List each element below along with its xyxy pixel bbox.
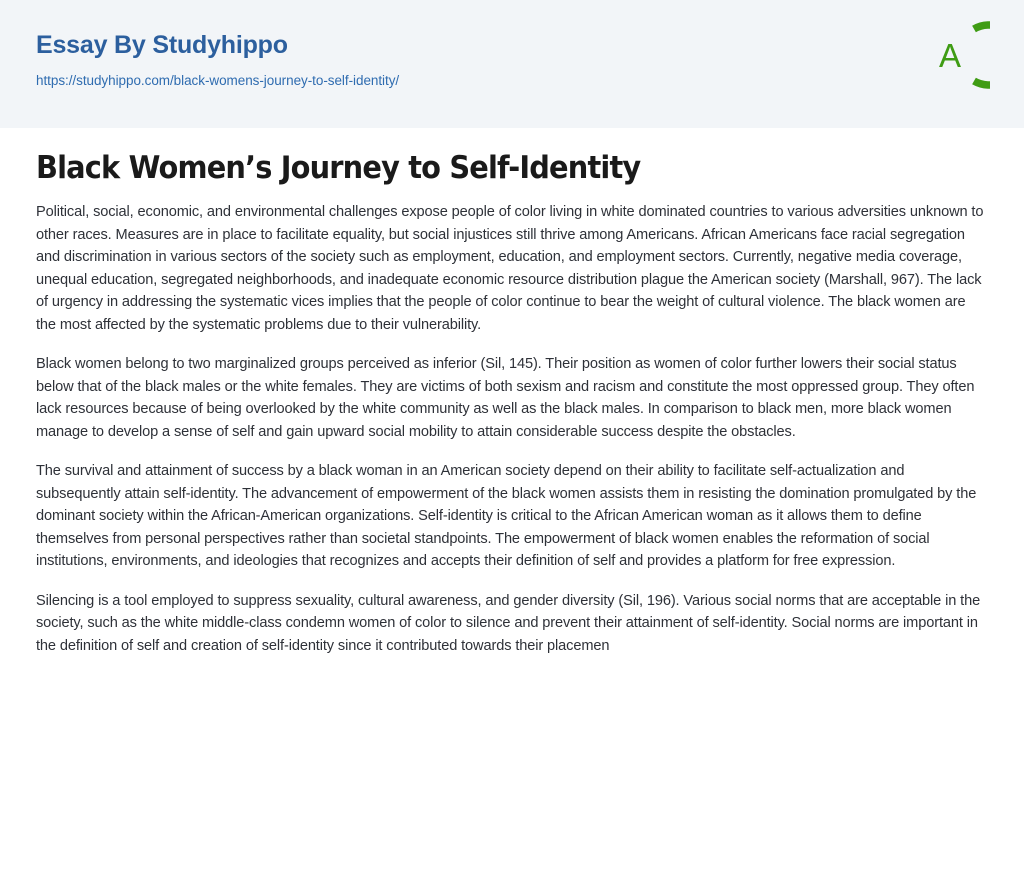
paragraph: Silencing is a tool employed to suppress… [36, 590, 988, 658]
page-title: Black Women’s Journey to Self-Identity [36, 128, 921, 187]
paragraph: Black women belong to two marginalized g… [36, 353, 988, 443]
paragraph: The survival and attainment of success b… [36, 460, 988, 573]
page-header: Essay By Studyhippo https://studyhippo.c… [0, 0, 1024, 128]
paragraph: Political, social, economic, and environ… [36, 201, 988, 336]
source-url-link[interactable]: https://studyhippo.com/black-womens-jour… [36, 73, 399, 88]
header-text-block: Essay By Studyhippo https://studyhippo.c… [36, 32, 399, 88]
svg-text:A: A [939, 37, 961, 74]
letter-a-circle-logo-icon: A [912, 16, 990, 94]
article-container: Black Women’s Journey to Self-Identity P… [0, 128, 1024, 657]
article-body: Political, social, economic, and environ… [36, 201, 988, 657]
site-title: Essay By Studyhippo [36, 32, 399, 60]
